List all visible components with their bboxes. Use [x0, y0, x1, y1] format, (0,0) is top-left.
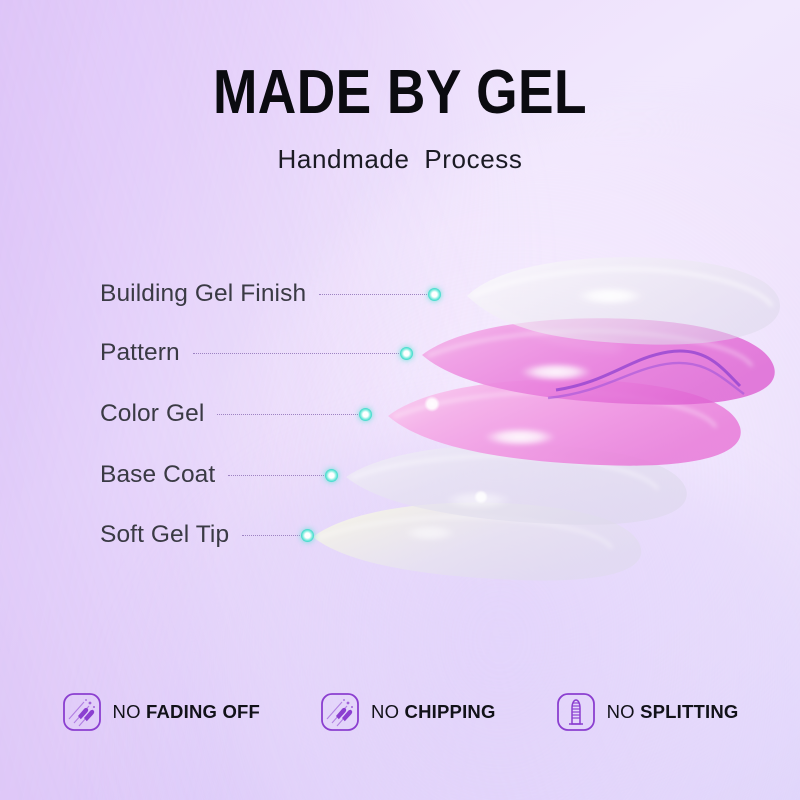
- leader-line: [228, 475, 326, 476]
- feature-emphasis: CHIPPING: [405, 701, 496, 722]
- layer-marker-dot: [301, 529, 314, 542]
- feature-badge-no-splitting[interactable]: NO SPLITTING: [556, 692, 739, 732]
- feature-badge-label: NO SPLITTING: [607, 701, 739, 723]
- leader-line: [193, 353, 401, 354]
- feature-badge-label: NO CHIPPING: [371, 701, 496, 723]
- layer-label-text: Pattern: [100, 339, 180, 367]
- feature-badge-no-chipping[interactable]: NO CHIPPING: [320, 692, 496, 732]
- feature-prefix: NO: [371, 701, 405, 722]
- product-infographic: MADE BY GEL Handmade Process: [0, 0, 800, 800]
- feature-prefix: NO: [607, 701, 641, 722]
- feature-badge-row: NO FADING OFF: [0, 692, 800, 732]
- layer-label-base-coat[interactable]: Base Coat: [100, 458, 338, 492]
- layer-marker-dot: [325, 469, 338, 482]
- layer-label-text: Base Coat: [100, 461, 215, 489]
- feature-emphasis: FADING OFF: [146, 701, 260, 722]
- leader-line: [242, 535, 302, 536]
- gel-brush-strokes-icon: [320, 692, 360, 732]
- leader-line: [319, 294, 429, 295]
- layer-marker-dot: [428, 288, 441, 301]
- layer-label-group: Building Gel Finish Pattern Color Gel Ba…: [0, 0, 800, 800]
- layer-marker-dot: [359, 408, 372, 421]
- layer-label-color-gel[interactable]: Color Gel: [100, 397, 372, 431]
- layer-marker-dot: [400, 347, 413, 360]
- feature-emphasis: SPLITTING: [640, 701, 738, 722]
- layer-label-text: Color Gel: [100, 400, 204, 428]
- layer-label-pattern[interactable]: Pattern: [100, 336, 413, 370]
- layer-label-building-gel-finish[interactable]: Building Gel Finish: [100, 277, 441, 311]
- nail-file-icon: [556, 692, 596, 732]
- feature-badge-no-fading-off[interactable]: NO FADING OFF: [62, 692, 261, 732]
- feature-badge-label: NO FADING OFF: [113, 701, 261, 723]
- layer-label-text: Soft Gel Tip: [100, 521, 229, 549]
- layer-label-soft-gel-tip[interactable]: Soft Gel Tip: [100, 518, 314, 552]
- gel-brush-strokes-icon: [62, 692, 102, 732]
- layer-label-text: Building Gel Finish: [100, 280, 306, 308]
- feature-prefix: NO: [113, 701, 147, 722]
- leader-line: [217, 414, 360, 415]
